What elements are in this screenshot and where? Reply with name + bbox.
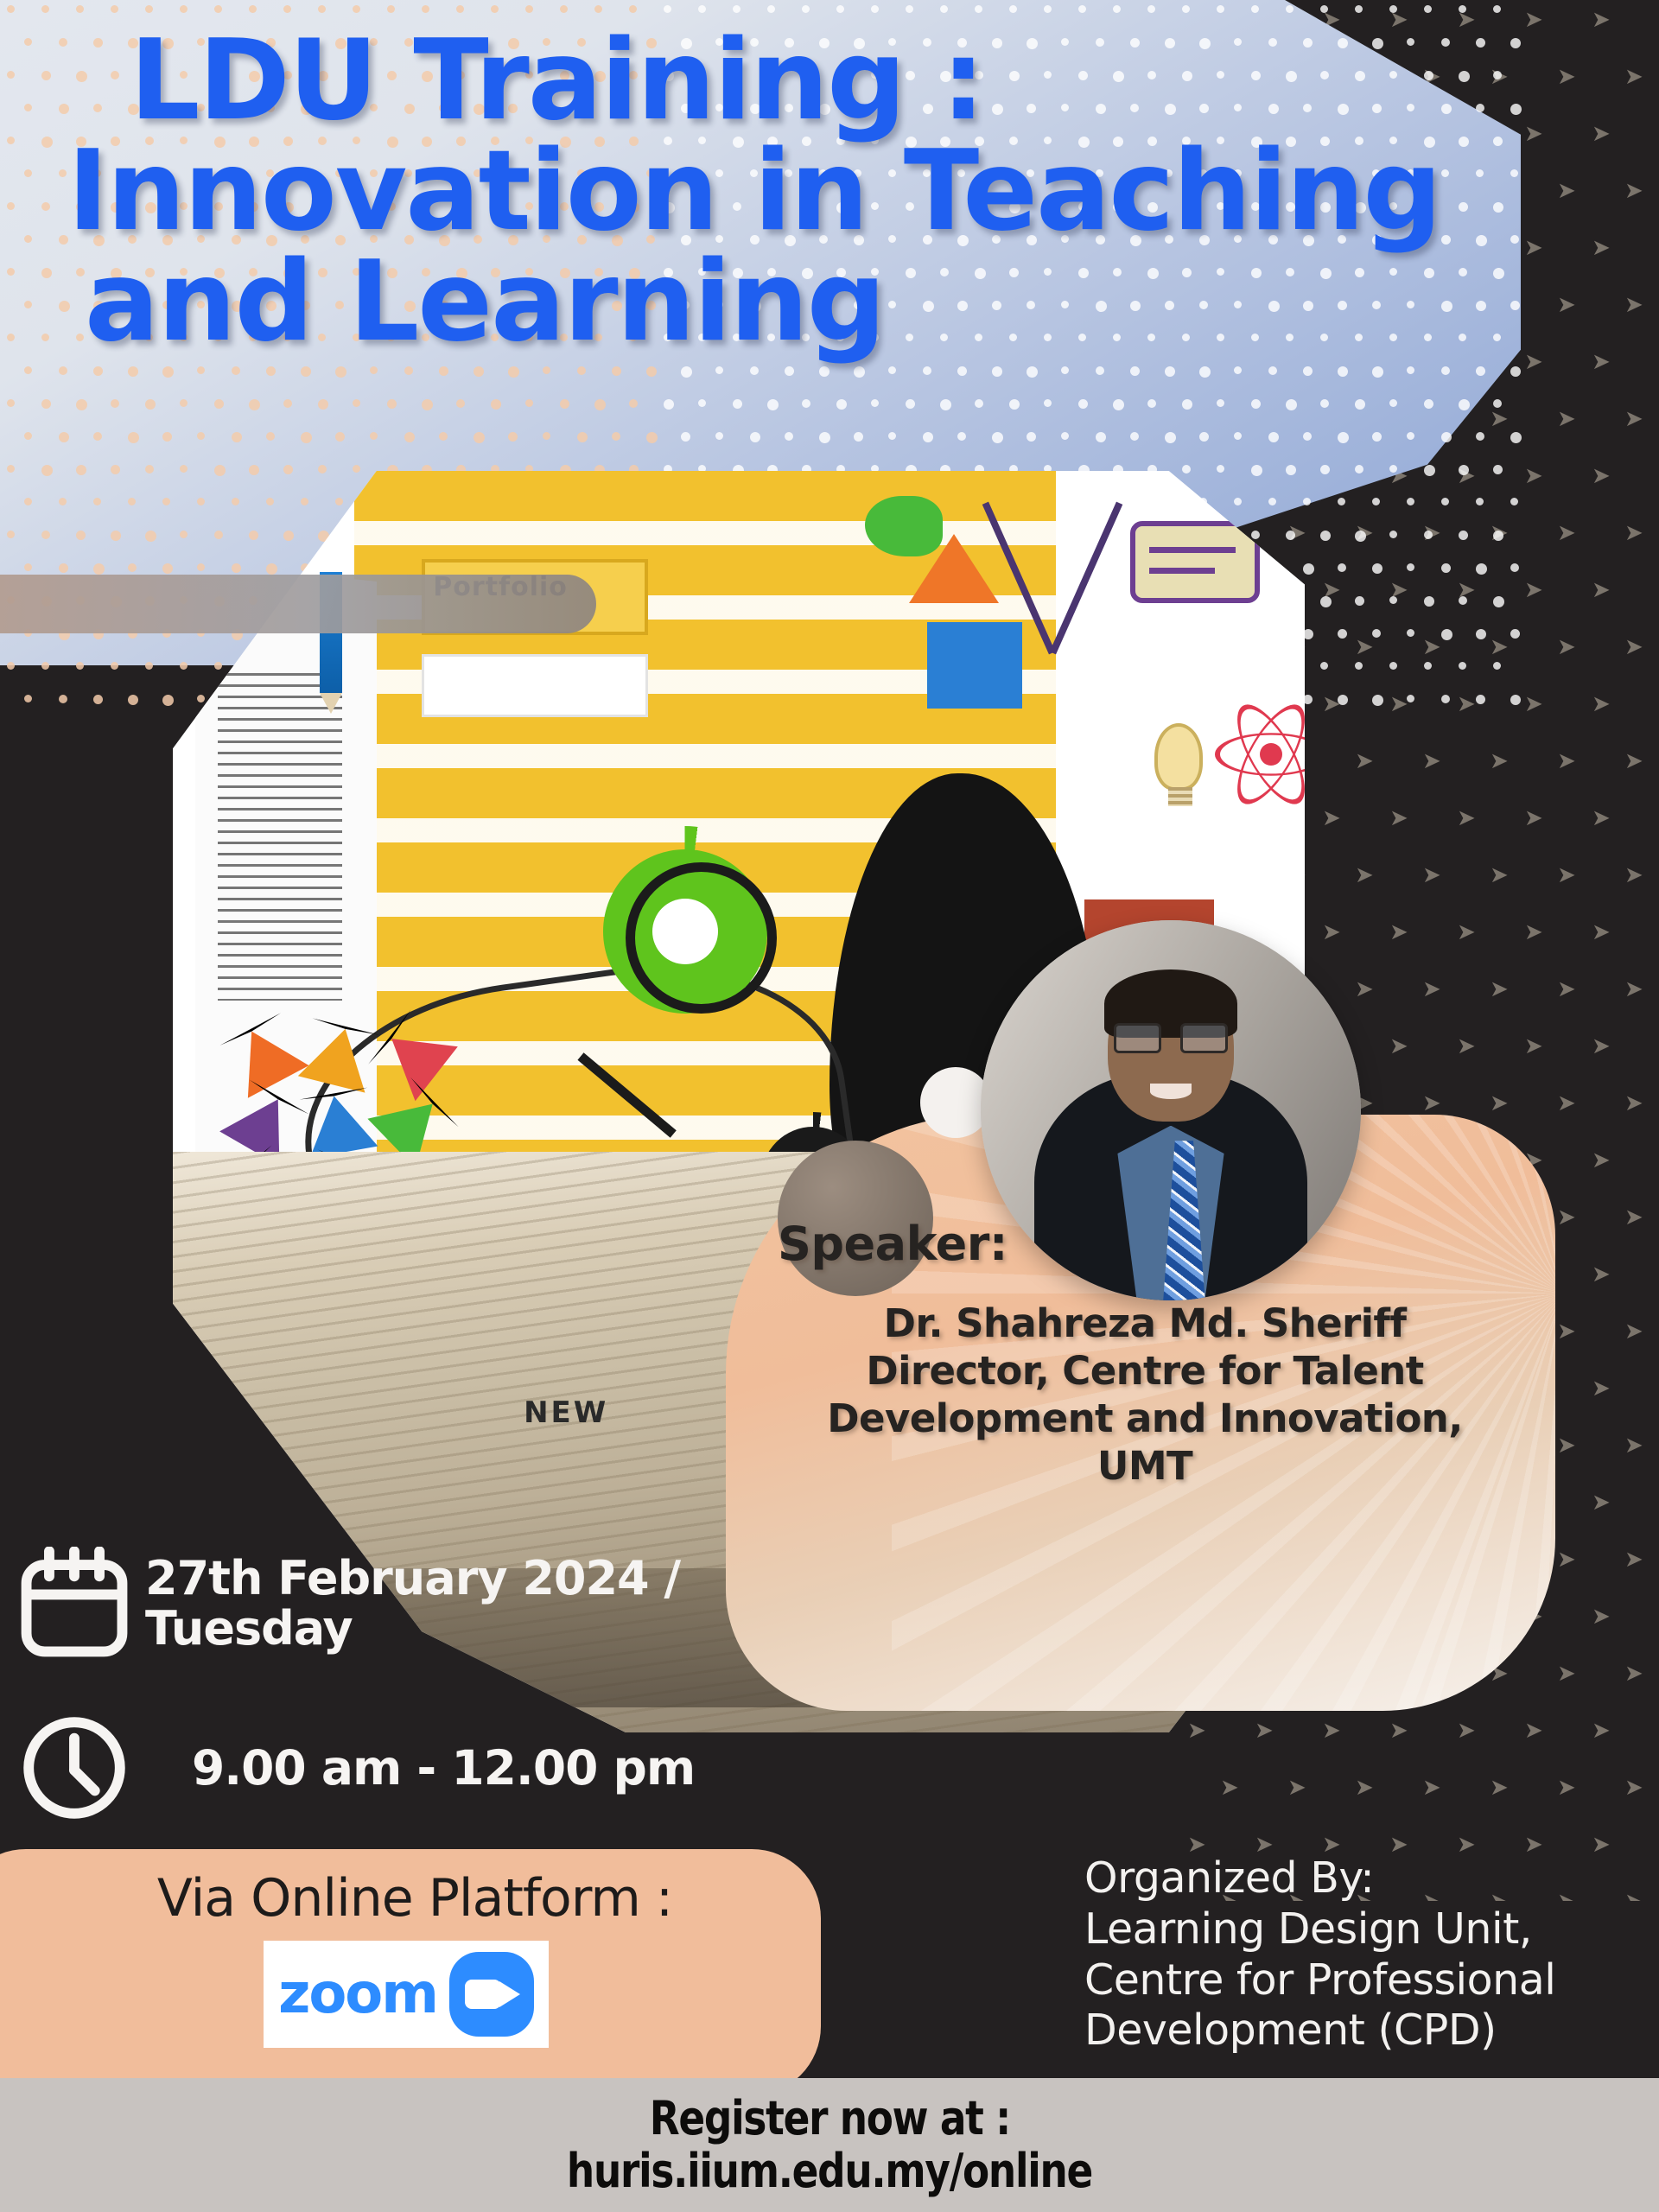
arrow-shape <box>297 1019 378 1093</box>
chevron-glyph: ➤ <box>1422 1777 1441 1799</box>
organizer-block: Organized By: Learning Design Unit, Cent… <box>1084 1853 1555 2056</box>
chevron-glyph: ➤ <box>1557 636 1576 658</box>
chevron-glyph: ➤ <box>1592 1035 1611 1058</box>
chevron-glyph: ➤ <box>1624 1548 1643 1571</box>
date-value: 27th February 2024 / <box>145 1551 680 1605</box>
lightbulb-icon <box>1154 723 1203 791</box>
chevron-glyph: ➤ <box>1457 1035 1476 1058</box>
chevron-glyph: ➤ <box>1557 294 1576 316</box>
avatar-glasses <box>1114 1023 1228 1053</box>
chevron-glyph: ➤ <box>1355 750 1374 772</box>
chevron-glyph: ➤ <box>1457 579 1476 601</box>
chevron-glyph: ➤ <box>1220 1777 1239 1799</box>
chevron-glyph: ➤ <box>1557 1206 1576 1229</box>
chevron-glyph: ➤ <box>1592 9 1611 31</box>
time-row: 9.00 am - 12.00 pm <box>17 1711 695 1825</box>
chevron-glyph: ➤ <box>1592 1149 1611 1172</box>
chevron-glyph: ➤ <box>1355 636 1374 658</box>
organizer-line-2: Centre for Professional <box>1084 1955 1555 2006</box>
chevron-glyph: ➤ <box>1389 579 1408 601</box>
illus-blue-box <box>927 622 1022 709</box>
chevron-glyph: ➤ <box>1524 693 1543 715</box>
calendar-icon <box>17 1547 131 1661</box>
chevron-glyph: ➤ <box>1592 1605 1611 1628</box>
chevron-glyph: ➤ <box>1557 1434 1576 1457</box>
illus-form-field <box>422 654 648 717</box>
chevron-glyph: ➤ <box>1524 579 1543 601</box>
chevron-glyph: ➤ <box>1524 1719 1543 1742</box>
page-title: LDU Training : Innovation in Teaching an… <box>52 26 1555 358</box>
title-line-3: and Learning <box>85 247 1555 358</box>
dot <box>59 695 67 703</box>
chevron-glyph: ➤ <box>1355 864 1374 887</box>
video-camera-icon <box>449 1952 534 2037</box>
chevron-glyph: ➤ <box>1557 66 1576 88</box>
zoom-wordmark: zoom <box>278 1967 437 2022</box>
chevron-glyph: ➤ <box>1557 978 1576 1001</box>
chevron-glyph: ➤ <box>1624 1092 1643 1115</box>
chevron-glyph: ➤ <box>1524 465 1543 487</box>
speaker-role-line-2: Development and Innovation, <box>778 1395 1512 1443</box>
chevron-glyph: ➤ <box>1457 465 1476 487</box>
time-value: 9.00 am - 12.00 pm <box>192 1740 695 1796</box>
clock-icon <box>17 1711 131 1825</box>
organizer-line-3: Development (CPD) <box>1084 2005 1555 2056</box>
chevron-glyph: ➤ <box>1557 180 1576 202</box>
chevron-glyph: ➤ <box>1490 978 1509 1001</box>
speaker-role-line-1: Director, Centre for Talent <box>778 1348 1512 1395</box>
title-line-2: Innovation in Teaching <box>67 137 1555 247</box>
chevron-glyph: ➤ <box>1557 522 1576 544</box>
chevron-glyph: ➤ <box>1592 1834 1611 1856</box>
chevron-glyph: ➤ <box>1624 750 1643 772</box>
chevron-glyph: ➤ <box>1422 864 1441 887</box>
chevron-glyph: ➤ <box>1490 750 1509 772</box>
chevron-glyph: ➤ <box>1524 1035 1543 1058</box>
speaker-details: Dr. Shahreza Md. Sheriff Director, Centr… <box>778 1300 1521 1491</box>
register-url[interactable]: huris.iium.edu.my/online <box>567 2145 1092 2197</box>
chevron-glyph: ➤ <box>1322 693 1341 715</box>
chevron-glyph: ➤ <box>1592 123 1611 145</box>
chevron-glyph: ➤ <box>1557 750 1576 772</box>
chevron-glyph: ➤ <box>1187 1719 1206 1742</box>
illus-ruled-lines <box>218 673 342 1001</box>
chevron-glyph: ➤ <box>1557 1548 1576 1571</box>
platform-label: Via Online Platform : <box>157 1868 672 1929</box>
chevron-glyph: ➤ <box>1457 807 1476 829</box>
chevron-glyph: ➤ <box>1592 465 1611 487</box>
chevron-glyph: ➤ <box>1490 1092 1509 1115</box>
chevron-glyph: ➤ <box>1355 522 1374 544</box>
chevron-glyph: ➤ <box>1255 1719 1274 1742</box>
speech-bubble-icon <box>1130 521 1260 603</box>
organizer-line-1: Learning Design Unit, <box>1084 1904 1555 1955</box>
chevron-glyph: ➤ <box>1557 1320 1576 1343</box>
chevron-glyph: ➤ <box>1389 1035 1408 1058</box>
chevron-glyph: ➤ <box>1624 636 1643 658</box>
arrow-shape <box>299 1088 378 1159</box>
chevron-glyph: ➤ <box>1592 807 1611 829</box>
chevron-glyph: ➤ <box>1490 408 1509 430</box>
chevron-glyph: ➤ <box>1557 1662 1576 1685</box>
chevron-glyph: ➤ <box>1624 1206 1643 1229</box>
chevron-glyph: ➤ <box>1624 294 1643 316</box>
chevron-glyph: ➤ <box>1624 1891 1643 1901</box>
illus-new-word: NEW <box>524 1395 608 1430</box>
chevron-glyph: ➤ <box>1557 1777 1576 1799</box>
chevron-glyph: ➤ <box>1592 579 1611 601</box>
chevron-glyph: ➤ <box>1422 1092 1441 1115</box>
date-text: 27th February 2024 / Tuesday <box>145 1554 680 1655</box>
registration-footer: Register now at : huris.iium.edu.my/onli… <box>0 2078 1659 2212</box>
chevron-glyph: ➤ <box>1557 408 1576 430</box>
speaker-role-line-3: UMT <box>778 1443 1512 1491</box>
chevron-glyph: ➤ <box>1389 1719 1408 1742</box>
chevron-glyph: ➤ <box>1624 408 1643 430</box>
chevron-glyph: ➤ <box>1490 864 1509 887</box>
chevron-glyph: ➤ <box>1624 66 1643 88</box>
chevron-glyph: ➤ <box>1422 522 1441 544</box>
date-row: 27th February 2024 / Tuesday <box>17 1547 695 1661</box>
chevron-glyph: ➤ <box>1389 921 1408 944</box>
platform-block: Via Online Platform : zoom <box>0 1849 821 2095</box>
chevron-glyph: ➤ <box>1557 1092 1576 1115</box>
chevron-glyph: ➤ <box>1457 693 1476 715</box>
dot <box>24 695 32 702</box>
schedule-block: 27th February 2024 / Tuesday 9.00 am - 1… <box>17 1547 695 1875</box>
speaker-avatar <box>981 920 1361 1300</box>
chevron-glyph: ➤ <box>1524 807 1543 829</box>
chevron-glyph: ➤ <box>1490 522 1509 544</box>
chevron-glyph: ➤ <box>1322 579 1341 601</box>
magnifier-icon <box>626 862 777 1014</box>
avatar-mouth <box>1150 1084 1192 1099</box>
chevron-glyph: ➤ <box>1592 1719 1611 1742</box>
chevron-glyph: ➤ <box>1322 807 1341 829</box>
chevron-glyph: ➤ <box>1592 1377 1611 1400</box>
chevron-glyph: ➤ <box>1592 351 1611 373</box>
chevron-glyph: ➤ <box>1389 693 1408 715</box>
organizer-heading: Organized By: <box>1084 1853 1555 1904</box>
chevron-glyph: ➤ <box>1624 978 1643 1001</box>
chevron-glyph: ➤ <box>1287 522 1306 544</box>
chevron-glyph: ➤ <box>1624 1320 1643 1343</box>
chevron-glyph: ➤ <box>1624 1662 1643 1685</box>
zoom-logo[interactable]: zoom <box>264 1941 549 2048</box>
poster-root: ➤➤➤➤➤➤➤➤➤➤➤➤➤➤➤➤➤➤➤➤➤➤➤➤➤➤➤➤➤➤➤➤➤➤➤➤➤➤➤➤… <box>0 0 1659 2212</box>
chevron-glyph: ➤ <box>1490 1777 1509 1799</box>
chevron-glyph: ➤ <box>1592 237 1611 259</box>
chevron-glyph: ➤ <box>1592 921 1611 944</box>
register-cta: Register now at : <box>649 2093 1009 2145</box>
day-value: Tuesday <box>145 1604 680 1654</box>
dot <box>128 695 138 705</box>
chevron-glyph: ➤ <box>1624 522 1643 544</box>
dot <box>93 695 103 704</box>
chevron-glyph: ➤ <box>1457 921 1476 944</box>
decorative-bar <box>0 575 596 633</box>
chevron-glyph: ➤ <box>1624 180 1643 202</box>
chevron-glyph: ➤ <box>1592 1491 1611 1514</box>
speaker-name: Dr. Shahreza Md. Sheriff <box>778 1300 1512 1348</box>
chevron-glyph: ➤ <box>1557 864 1576 887</box>
title-line-1: LDU Training : <box>130 26 1555 137</box>
chevron-glyph: ➤ <box>1592 1263 1611 1286</box>
dot <box>162 695 174 706</box>
chevron-glyph: ➤ <box>1624 864 1643 887</box>
chevron-glyph: ➤ <box>1287 1777 1306 1799</box>
dot <box>197 695 205 702</box>
chevron-glyph: ➤ <box>1355 1777 1374 1799</box>
chevron-glyph: ➤ <box>1524 921 1543 944</box>
chevron-glyph: ➤ <box>1490 636 1509 658</box>
arrow-shape <box>219 1014 308 1098</box>
atom-icon <box>1215 698 1305 810</box>
chevron-glyph: ➤ <box>1457 1719 1476 1742</box>
chevron-glyph: ➤ <box>1557 1891 1576 1901</box>
chevron-glyph: ➤ <box>1389 807 1408 829</box>
chevron-glyph: ➤ <box>1624 1777 1643 1799</box>
illus-orange-triangle <box>909 534 999 603</box>
chevron-glyph: ➤ <box>1592 693 1611 715</box>
chevron-glyph: ➤ <box>1422 978 1441 1001</box>
chevron-glyph: ➤ <box>1624 1434 1643 1457</box>
chevron-glyph: ➤ <box>1422 636 1441 658</box>
ruler-icon-a <box>1050 502 1123 655</box>
chevron-glyph: ➤ <box>1422 750 1441 772</box>
chevron-glyph: ➤ <box>1322 1719 1341 1742</box>
